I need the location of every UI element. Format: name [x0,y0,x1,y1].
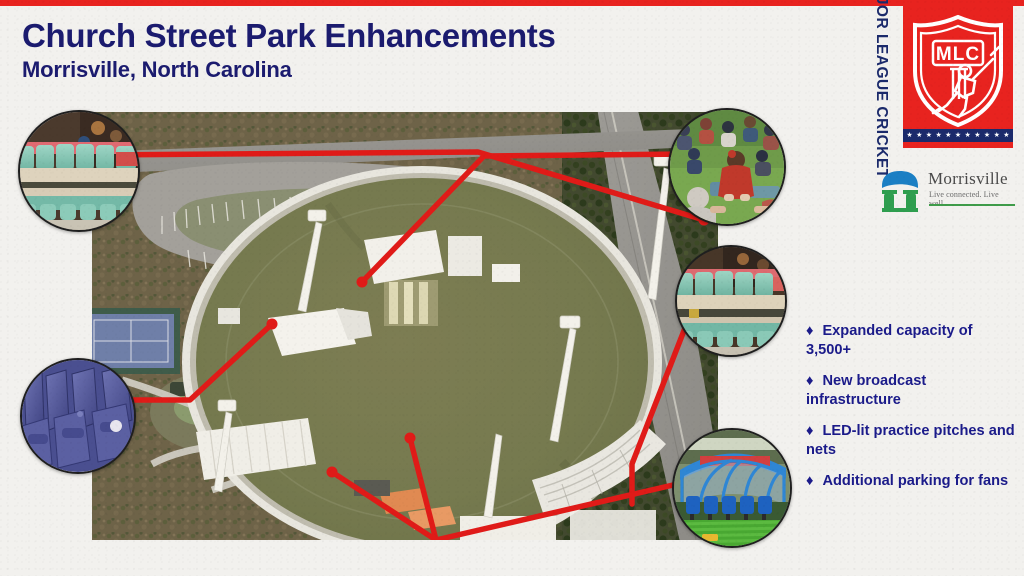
morrisville-name: Morrisville [928,169,1008,189]
mlc-vertical-text: MAJOR LEAGUE CRICKET [873,0,889,179]
diamond-bullet-icon: ♦ [806,373,813,389]
diamond-bullet-icon: ♦ [806,323,813,339]
list-item-label: Additional parking for fans [822,473,1008,489]
slide: Church Street Park Enhancements Morrisvi… [0,0,1024,576]
callout-spectators-lawn[interactable] [668,108,786,226]
diamond-bullet-icon: ♦ [806,423,813,439]
mlc-shield-icon: MLC [909,13,1007,129]
callout-blue-stadium-chairs[interactable] [20,358,136,474]
morrisville-underline [929,204,1015,206]
morrisville-mark-icon [880,170,920,212]
list-item: ♦LED-lit practice pitches and nets [806,422,1018,459]
callout-teal-seating-mid-right[interactable] [675,245,787,357]
enhancements-list: ♦Expanded capacity of 3,500+ ♦New broadc… [806,322,1018,504]
svg-text:MLC: MLC [936,44,980,65]
callout-teal-seating-top-left[interactable] [18,110,140,232]
page-subtitle: Morrisville, North Carolina [22,57,292,83]
mlc-stars-bar: ★★★★★★★★★★★ [903,129,1013,142]
diamond-bullet-icon: ♦ [806,473,813,489]
callout-blue-dugout-shelter[interactable] [672,428,792,548]
list-item: ♦Additional parking for fans [806,472,1018,491]
list-item-label: LED-lit practice pitches and nets [806,423,1015,458]
page-title: Church Street Park Enhancements [22,17,556,55]
mlc-logo: MAJOR LEAGUE CRICKET MLC [855,5,1013,157]
list-item: ♦Expanded capacity of 3,500+ [806,322,1018,359]
morrisville-logo: Morrisville Live connected. Live well. [880,168,1016,214]
list-item-label: New broadcast infrastructure [806,373,926,408]
list-item-label: Expanded capacity of 3,500+ [806,323,973,358]
aerial-site-photo [92,112,718,540]
list-item: ♦New broadcast infrastructure [806,372,1018,409]
mlc-vertical-text-wrap: MAJOR LEAGUE CRICKET [851,5,911,157]
